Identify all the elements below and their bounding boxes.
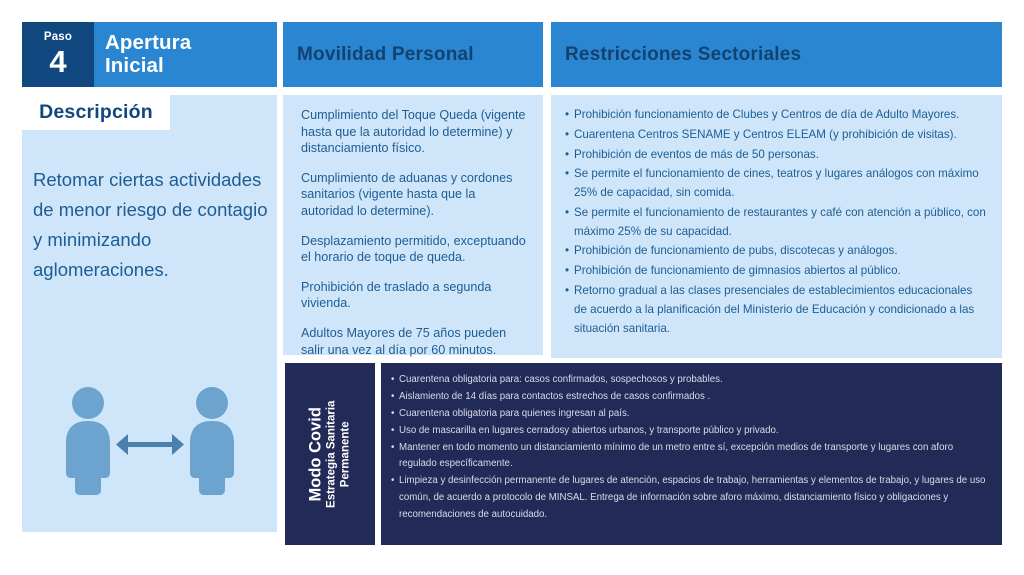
list-item: Limpieza y desinfección permanente de lu… xyxy=(391,473,990,524)
modo-covid-rotated-text: Modo Covid Estrategia Sanitaria Permanen… xyxy=(307,400,354,507)
list-item: Se permite el funcionamiento de restaura… xyxy=(565,204,988,242)
person-left-icon xyxy=(66,387,110,495)
restricciones-list: Prohibición funcionamiento de Clubes y C… xyxy=(565,106,988,338)
person-right-icon xyxy=(190,387,234,495)
list-item: Cuarentena obligatoria para quienes ingr… xyxy=(391,406,990,423)
list-item: Cuarentena obligatoria para: casos confi… xyxy=(391,372,990,389)
list-item: Prohibición de eventos de más de 50 pers… xyxy=(565,146,988,165)
step-title-text: Apertura Inicial xyxy=(94,32,191,76)
movilidad-paragraph: Prohibición de traslado a segunda vivien… xyxy=(301,279,529,312)
panel-restricciones-sectoriales: Prohibición funcionamiento de Clubes y C… xyxy=(551,95,1002,358)
list-item: Se permite el funcionamiento de cines, t… xyxy=(565,165,988,203)
description-label-text: Descripción xyxy=(39,101,153,124)
social-distancing-icon xyxy=(50,385,250,495)
movilidad-paragraph: Desplazamiento permitido, exceptuando el… xyxy=(301,233,529,266)
modo-covid-subtitle-line2: Permanente xyxy=(339,421,353,487)
step-title-bar: Apertura Inicial xyxy=(94,22,277,87)
description-body-text: Retomar ciertas actividades de menor rie… xyxy=(33,165,268,285)
modo-covid-title: Modo Covid xyxy=(307,407,326,501)
modo-covid-list: Cuarentena obligatoria para: casos confi… xyxy=(391,372,990,524)
list-item: Mantener en todo momento un distanciamie… xyxy=(391,440,990,474)
step-badge: Paso 4 xyxy=(22,22,94,87)
column-header-restricciones-label: Restricciones Sectoriales xyxy=(551,44,801,66)
list-item: Prohibición de funcionamiento de pubs, d… xyxy=(565,242,988,261)
movilidad-paragraph: Cumplimiento del Toque Queda (vigente ha… xyxy=(301,107,529,157)
description-label-box: Descripción xyxy=(22,95,170,130)
step-title-line2: Inicial xyxy=(105,55,191,77)
movilidad-paragraph: Adultos Mayores de 75 años pueden salir … xyxy=(301,325,529,358)
list-item: Prohibición funcionamiento de Clubes y C… xyxy=(565,106,988,125)
step-number-label: 4 xyxy=(49,46,66,77)
column-header-movilidad-label: Movilidad Personal xyxy=(283,44,474,66)
step-title-line1: Apertura xyxy=(105,32,191,54)
modo-covid-subtitle-line1: Estrategia Sanitaria xyxy=(326,400,340,507)
modo-covid-label-panel: Modo Covid Estrategia Sanitaria Permanen… xyxy=(285,363,375,545)
panel-modo-covid-body: Cuarentena obligatoria para: casos confi… xyxy=(381,363,1002,545)
panel-movilidad-personal: Cumplimiento del Toque Queda (vigente ha… xyxy=(283,95,543,355)
column-header-restricciones: Restricciones Sectoriales xyxy=(551,22,1002,87)
list-item: Prohibición de funcionamiento de gimnasi… xyxy=(565,262,988,281)
column-header-movilidad: Movilidad Personal xyxy=(283,22,543,87)
list-item: Retorno gradual a las clases presenciale… xyxy=(565,282,988,338)
list-item: Cuarentena Centros SENAME y Centros ELEA… xyxy=(565,126,988,145)
step-word-label: Paso xyxy=(44,32,72,44)
list-item: Uso de mascarilla en lugares cerradosy a… xyxy=(391,423,990,440)
list-item: Aislamiento de 14 días para contactos es… xyxy=(391,389,990,406)
double-arrow-icon xyxy=(116,434,184,455)
movilidad-paragraph: Cumplimiento de aduanas y cordones sanit… xyxy=(301,170,529,220)
